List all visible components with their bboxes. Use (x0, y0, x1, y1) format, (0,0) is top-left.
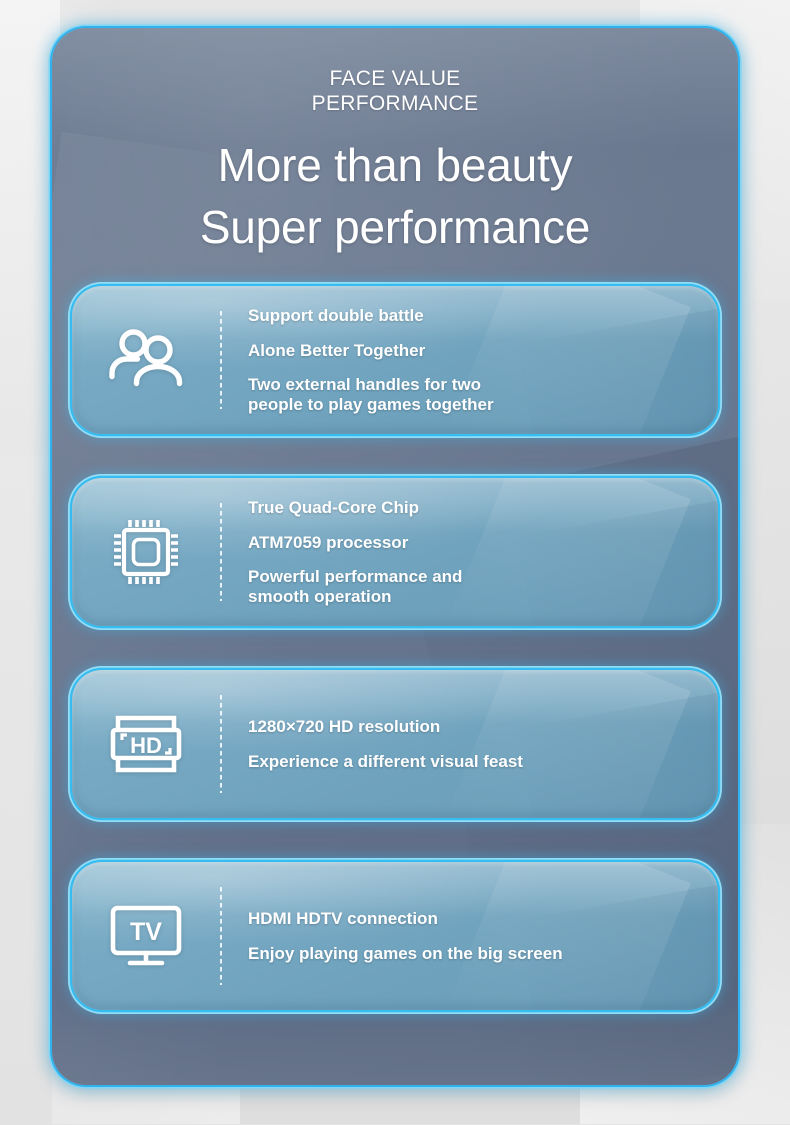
feature-card-quad-core[interactable]: True Quad-Core Chip ATM7059 processor Po… (72, 478, 718, 626)
card-text-block: HDMI HDTV connection Enjoy playing games… (222, 908, 718, 964)
card-line-1: HDMI HDTV connection (248, 908, 706, 929)
hd-display-icon: HD (72, 713, 220, 775)
tv-icon-label: TV (130, 918, 162, 946)
feature-card-list: Support double battle Alone Better Toget… (52, 286, 738, 1010)
card-line-2: ATM7059 processor (248, 532, 706, 553)
card-text-block: True Quad-Core Chip ATM7059 processor Po… (222, 497, 718, 607)
eyebrow-line-1: FACE VALUE (52, 66, 738, 91)
card-text-block: Support double battle Alone Better Toget… (222, 305, 718, 415)
panel-header: FACE VALUE PERFORMANCE More than beauty … (52, 28, 738, 258)
headline-line-1: More than beauty (52, 134, 738, 196)
eyebrow-line-2: PERFORMANCE (52, 91, 738, 116)
card-text-block: 1280×720 HD resolution Experience a diff… (222, 716, 718, 772)
feature-card-double-battle[interactable]: Support double battle Alone Better Toget… (72, 286, 718, 434)
eyebrow-text: FACE VALUE PERFORMANCE (52, 66, 738, 116)
headline-line-2: Super performance (52, 196, 738, 258)
feature-panel: FACE VALUE PERFORMANCE More than beauty … (52, 28, 738, 1085)
cpu-chip-icon (72, 514, 220, 590)
card-line-1: True Quad-Core Chip (248, 497, 706, 518)
tv-monitor-icon: TV (72, 904, 220, 968)
card-line-3: Powerful performance andsmooth operation (248, 567, 706, 607)
feature-card-hdmi-hdtv[interactable]: TV HDMI HDTV connection Enjoy playing ga… (72, 862, 718, 1010)
hd-icon-label: HD (130, 733, 162, 758)
background-facet (0, 0, 60, 460)
feature-card-hd-resolution[interactable]: HD 1280×720 HD resolution Experience a d… (72, 670, 718, 818)
card-line-2: Alone Better Together (248, 340, 706, 361)
card-line-2: Enjoy playing games on the big screen (248, 943, 706, 964)
card-line-1: Support double battle (248, 305, 706, 326)
card-line-3: Two external handles for twopeople to pl… (248, 375, 706, 415)
card-line-2: Experience a different visual feast (248, 751, 706, 772)
background-facet (0, 455, 52, 1125)
two-people-icon (72, 329, 220, 391)
page-title: More than beauty Super performance (52, 134, 738, 258)
card-line-1: 1280×720 HD resolution (248, 716, 706, 737)
